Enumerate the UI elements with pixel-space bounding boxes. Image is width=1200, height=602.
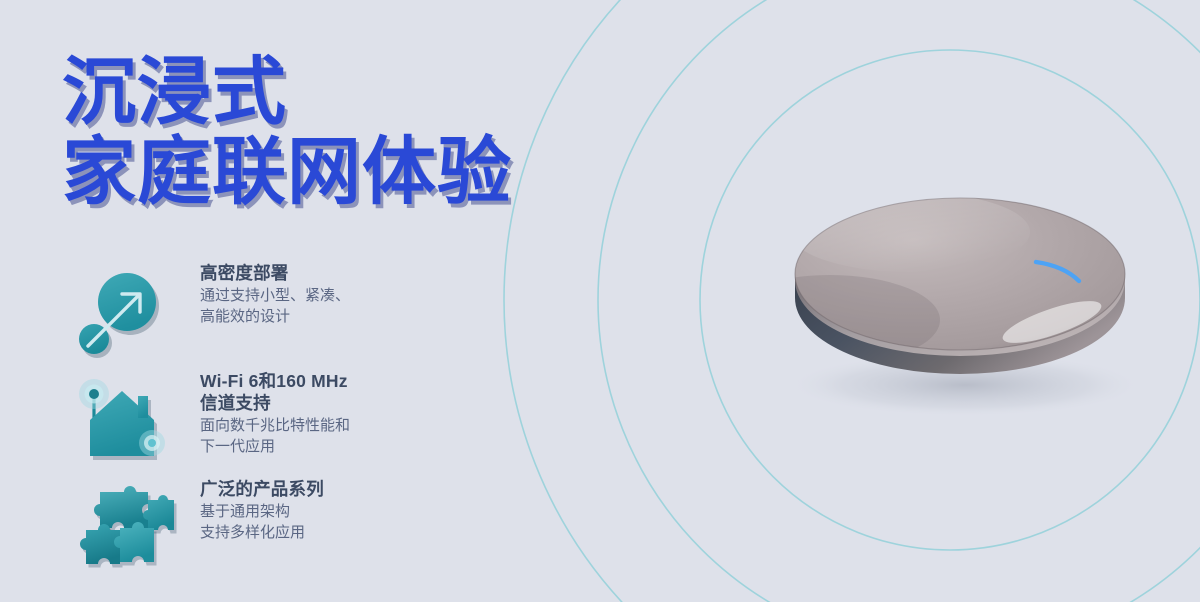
puzzle-pieces-icon bbox=[72, 480, 184, 580]
wireless-access-point-device bbox=[760, 170, 1160, 430]
connected-home-icon bbox=[72, 372, 184, 472]
feature-item-wifi6: Wi-Fi 6和160 MHz 信道支持 面向数千兆比特性能和 下一代应用 bbox=[72, 370, 502, 478]
feature-item-portfolio: 广泛的产品系列 基于通用架构 支持多样化应用 bbox=[72, 478, 502, 586]
feature-title: 高密度部署 bbox=[200, 262, 502, 284]
feature-body: 基于通用架构 支持多样化应用 bbox=[200, 501, 502, 543]
headline-line-2: 家庭联网体验 bbox=[62, 132, 702, 212]
feature-title: 广泛的产品系列 bbox=[200, 478, 502, 500]
page-title: 沉浸式 家庭联网体验 bbox=[62, 52, 702, 212]
feature-title: Wi-Fi 6和160 MHz 信道支持 bbox=[200, 370, 502, 414]
feature-item-high-density: 高密度部署 通过支持小型、紧凑、 高能效的设计 bbox=[72, 262, 502, 370]
headline-line-1: 沉浸式 bbox=[62, 52, 702, 132]
promo-banner: 沉浸式 家庭联网体验 bbox=[0, 0, 1200, 602]
growth-circles-arrow-icon bbox=[72, 264, 184, 364]
feature-body: 面向数千兆比特性能和 下一代应用 bbox=[200, 415, 502, 457]
feature-body: 通过支持小型、紧凑、 高能效的设计 bbox=[200, 285, 502, 327]
feature-list: 高密度部署 通过支持小型、紧凑、 高能效的设计 bbox=[72, 262, 502, 586]
